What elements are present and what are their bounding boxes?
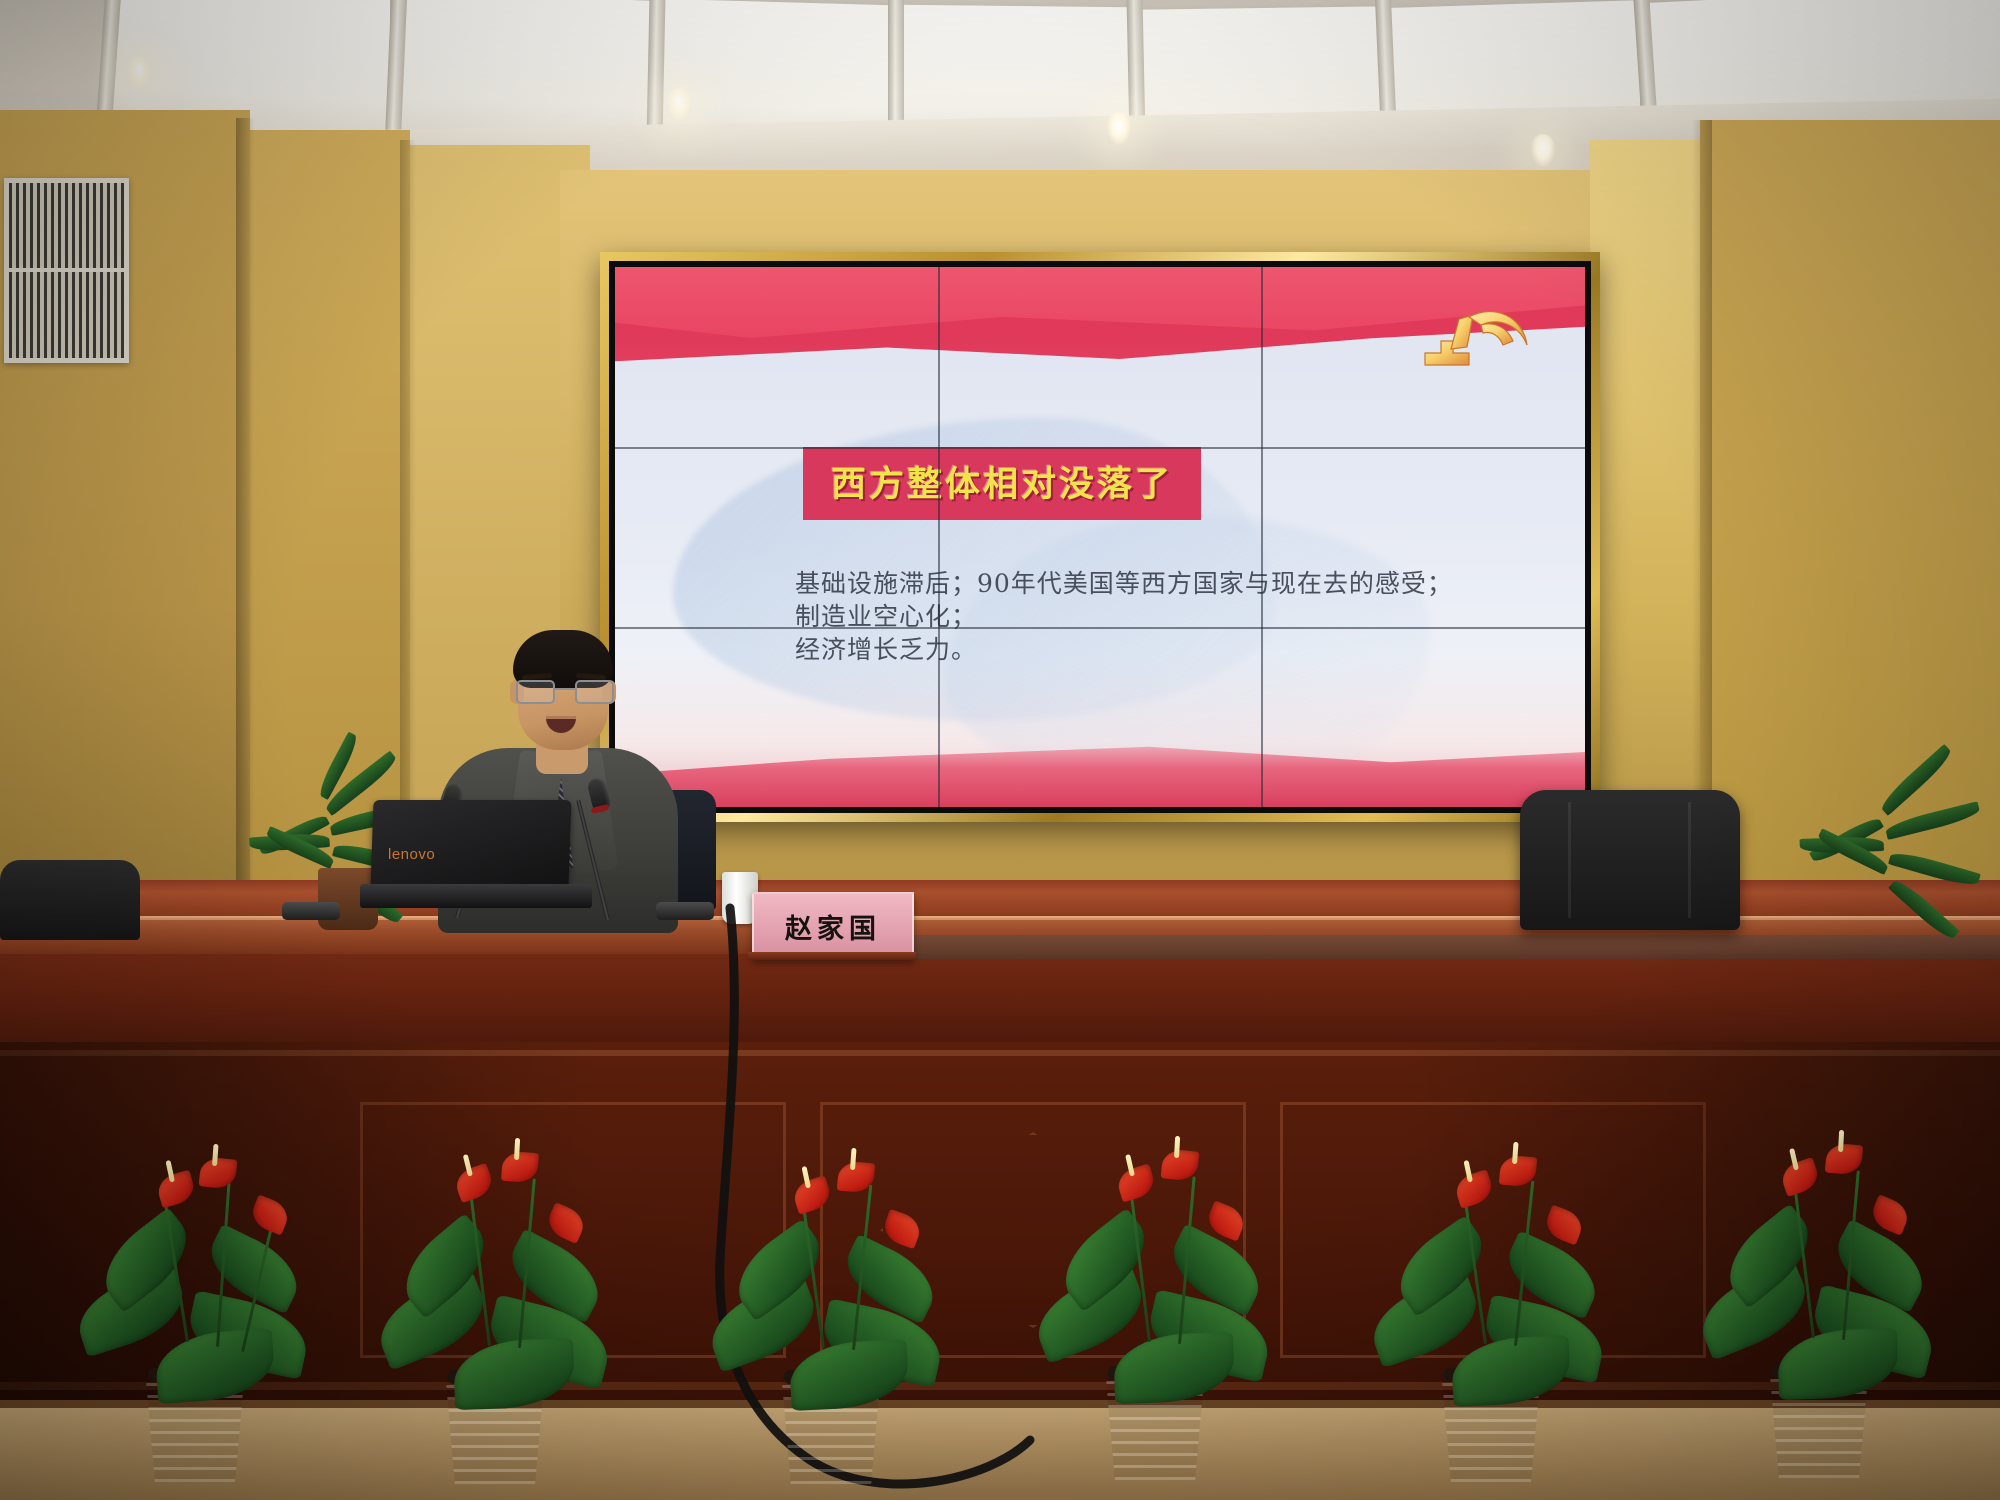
plant-5	[1360, 1082, 1670, 1482]
slide-title-text: 西方整体相对没落了	[831, 465, 1173, 505]
video-wall[interactable]: 西方整体相对没落了 基础设施滞后；90年代美国等西方国家与现在去的感受； 制造业…	[600, 252, 1600, 822]
plant-3	[700, 1084, 1010, 1484]
cpc-hammer-sickle-icon	[1407, 295, 1537, 387]
plant-1	[66, 1082, 376, 1482]
video-wall-seam-vertical	[1261, 267, 1263, 807]
slide-body: 基础设施滞后；90年代美国等西方国家与现在去的感受； 制造业空心化； 经济增长乏…	[795, 567, 1515, 666]
chair-left[interactable]	[0, 860, 140, 940]
chair-right[interactable]	[1520, 790, 1740, 930]
downlight	[1106, 112, 1132, 146]
slide-canvas: 西方整体相对没落了 基础设施滞后；90年代美国等西方国家与现在去的感受； 制造业…	[615, 267, 1585, 807]
laptop-brand-logo: lenovo	[388, 846, 435, 863]
palm-plant-right	[1818, 700, 2000, 950]
downlight	[666, 88, 692, 122]
laptop-base	[360, 884, 592, 908]
downlight	[1530, 134, 1556, 168]
plant-6	[1690, 1078, 2000, 1478]
glasses-icon	[516, 680, 612, 702]
slide-title-band: 西方整体相对没落了	[803, 447, 1201, 520]
video-wall-seam-vertical	[938, 267, 940, 807]
video-wall-seam-horizontal	[615, 627, 1585, 629]
hvac-vent-divider	[4, 268, 129, 272]
slide-body-line-1: 基础设施滞后；90年代美国等西方国家与现在去的感受；	[795, 567, 1515, 600]
plant-2	[370, 1084, 680, 1484]
screenshot-root: 西方整体相对没落了 基础设施滞后；90年代美国等西方国家与现在去的感受； 制造业…	[0, 0, 2000, 1500]
wall-corner-shadow	[236, 118, 254, 948]
slide-body-line-3: 经济增长乏力。	[795, 633, 1515, 666]
downlight	[126, 56, 152, 90]
video-wall-seam-horizontal	[615, 447, 1585, 449]
video-wall-bezel: 西方整体相对没落了 基础设施滞后；90年代美国等西方国家与现在去的感受； 制造业…	[609, 261, 1591, 813]
laptop[interactable]	[370, 800, 571, 886]
plant-4	[1028, 1080, 1338, 1480]
